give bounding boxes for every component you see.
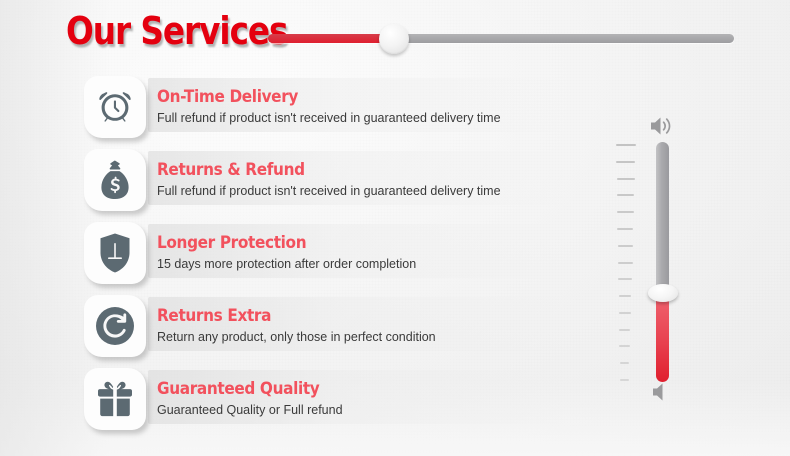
header-slider-handle[interactable] xyxy=(379,24,409,54)
money-bag-icon xyxy=(96,160,134,200)
icon-badge xyxy=(84,76,146,138)
volume-tick xyxy=(618,262,633,264)
speaker-volume-down-icon[interactable] xyxy=(648,380,678,404)
icon-badge xyxy=(84,222,146,284)
header: Our Services xyxy=(0,0,790,70)
volume-tick xyxy=(617,211,634,213)
volume-tick xyxy=(616,144,636,146)
service-item-on-time-delivery[interactable]: On-Time Delivery Full refund if product … xyxy=(0,70,600,143)
volume-tick xyxy=(619,312,631,314)
row-text: Returns Extra Return any product, only t… xyxy=(157,306,436,345)
volume-track-empty xyxy=(656,142,669,293)
page-title: Our Services xyxy=(66,9,287,53)
header-progress-slider[interactable] xyxy=(268,24,734,54)
volume-tick xyxy=(620,379,629,381)
service-description: Full refund if product isn't received in… xyxy=(157,183,501,199)
volume-tick xyxy=(619,329,630,331)
row-text: Longer Protection 15 days more protectio… xyxy=(157,233,416,272)
return-arrow-icon xyxy=(94,305,136,347)
volume-slider[interactable] xyxy=(600,100,710,420)
volume-tick xyxy=(620,362,630,364)
service-item-returns-refund[interactable]: Returns & Refund Full refund if product … xyxy=(0,143,600,216)
service-item-longer-protection[interactable]: Longer Protection 15 days more protectio… xyxy=(0,216,600,289)
volume-tick xyxy=(616,161,635,163)
service-title: On-Time Delivery xyxy=(157,87,466,107)
speaker-volume-up-icon[interactable] xyxy=(648,114,678,138)
volume-slider-handle[interactable] xyxy=(648,284,678,302)
shield-icon xyxy=(98,232,132,274)
service-item-returns-extra[interactable]: Returns Extra Return any product, only t… xyxy=(0,289,600,362)
icon-badge xyxy=(84,149,146,211)
service-description: Return any product, only those in perfec… xyxy=(157,329,436,345)
row-text: Returns & Refund Full refund if product … xyxy=(157,160,501,199)
service-title: Returns Extra xyxy=(157,306,408,326)
volume-tick xyxy=(619,345,630,347)
header-slider-fill xyxy=(268,34,394,43)
volume-tick-marks xyxy=(616,144,648,379)
service-title: Returns & Refund xyxy=(157,160,466,180)
icon-badge xyxy=(84,368,146,430)
volume-track[interactable] xyxy=(652,142,672,382)
service-description: Guaranteed Quality or Full refund xyxy=(157,402,343,418)
service-description: Full refund if product isn't received in… xyxy=(157,110,501,126)
service-description: 15 days more protection after order comp… xyxy=(157,256,416,272)
alarm-clock-icon xyxy=(95,87,135,127)
service-item-guaranteed-quality[interactable]: Guaranteed Quality Guaranteed Quality or… xyxy=(0,362,600,435)
row-text: On-Time Delivery Full refund if product … xyxy=(157,87,501,126)
row-text: Guaranteed Quality Guaranteed Quality or… xyxy=(157,379,343,418)
volume-tick xyxy=(617,194,635,196)
volume-tick xyxy=(618,245,633,247)
gift-box-icon xyxy=(94,380,136,418)
icon-badge xyxy=(84,295,146,357)
service-list: On-Time Delivery Full refund if product … xyxy=(0,70,600,435)
service-title: Longer Protection xyxy=(157,233,390,253)
services-panel: Our Services xyxy=(0,0,790,456)
volume-tick xyxy=(619,295,632,297)
volume-tick xyxy=(618,278,632,280)
volume-track-filled xyxy=(656,293,669,382)
volume-tick xyxy=(617,178,635,180)
volume-tick xyxy=(617,228,633,230)
service-title: Guaranteed Quality xyxy=(157,379,324,399)
